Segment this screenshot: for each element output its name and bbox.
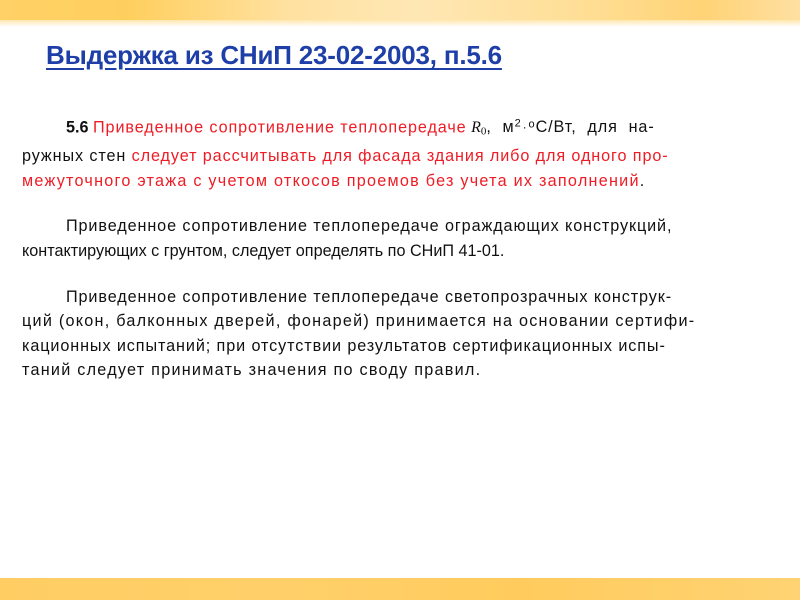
paragraph-2-line-2: контактирующих с грунтом, следует опреде… — [22, 239, 734, 264]
paragraph-3: Приведенное сопротивление теплопередаче … — [22, 285, 734, 383]
paragraph-1-line-1: 5.6 Приведенное сопротивление теплоперед… — [22, 112, 734, 144]
text-run: кационных испытаний; при отсутствии резу… — [22, 337, 666, 355]
text-run: контактирующих с грунтом, следует опреде… — [22, 242, 504, 260]
text-run: ружных стен — [22, 147, 132, 165]
highlight-run: Приведенное сопротивление теплопередаче — [93, 118, 467, 136]
period-run: . — [640, 172, 645, 190]
paragraph-2-line-1: Приведенное сопротивление теплопередаче … — [22, 214, 734, 239]
unit-run: , м2·оС/Вт, для на- — [486, 118, 654, 136]
body-text-block: 5.6 Приведенное сопротивление теплоперед… — [22, 112, 734, 383]
highlight-run: следует рассчитывать для фасада здания л… — [132, 147, 669, 165]
top-accent-bar-fade — [0, 20, 800, 27]
formula-r0: R0 — [471, 119, 486, 136]
paragraph-1: 5.6 Приведенное сопротивление теплоперед… — [22, 112, 734, 193]
paragraph-3-line-1: Приведенное сопротивление теплопередаче … — [22, 285, 734, 310]
text-run: ций (окон, балконных дверей, фонарей) пр… — [22, 312, 695, 330]
text-run: таний следует принимать значения по свод… — [22, 361, 481, 379]
slide: Выдержка из СНиП 23-02-2003, п.5.6 5.6 П… — [0, 0, 800, 600]
paragraph-3-line-2: ций (окон, балконных дверей, фонарей) пр… — [22, 309, 734, 334]
bottom-accent-bar — [0, 578, 800, 600]
paragraph-2: Приведенное сопротивление теплопередаче … — [22, 214, 734, 263]
paragraph-1-line-2: ружных стен следует рассчитывать для фас… — [22, 144, 734, 169]
clause-number: 5.6 — [66, 118, 89, 136]
top-accent-bar — [0, 0, 800, 20]
page-title: Выдержка из СНиП 23-02-2003, п.5.6 — [46, 40, 502, 71]
text-run: Приведенное сопротивление теплопередаче … — [66, 217, 672, 235]
highlight-run: межуточного этажа с учетом откосов проем… — [22, 172, 640, 190]
paragraph-3-line-4: таний следует принимать значения по свод… — [22, 358, 734, 383]
text-run: Приведенное сопротивление теплопередаче … — [66, 288, 672, 306]
paragraph-3-line-3: кационных испытаний; при отсутствии резу… — [22, 334, 734, 359]
paragraph-1-line-3: межуточного этажа с учетом откосов проем… — [22, 169, 734, 194]
